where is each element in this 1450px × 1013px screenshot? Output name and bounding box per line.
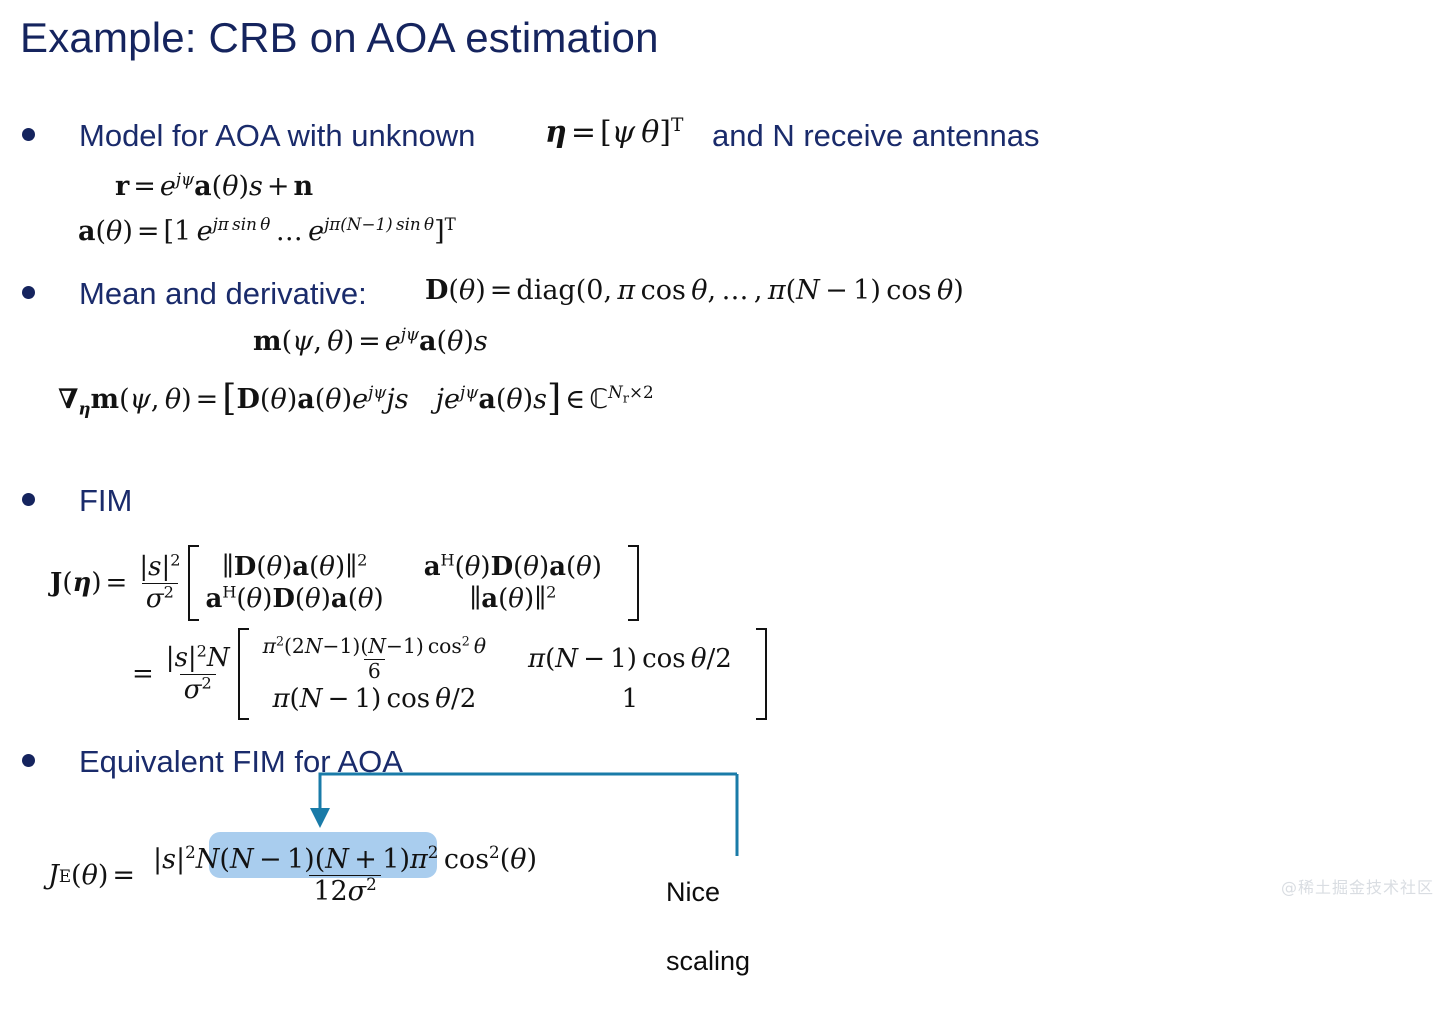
matrix-cell-12: π(N − 1) cos θ/2 xyxy=(528,646,732,672)
nice-scaling-connector-arrow xyxy=(0,760,780,880)
bullet-label-fim: FIM xyxy=(79,483,132,519)
bullet-item-mean-derivative: Mean and derivative: xyxy=(22,276,367,312)
connector-elbow-path xyxy=(320,774,737,810)
bullet-marker-icon xyxy=(22,286,35,299)
matrix-cell-21: π(N − 1) cos θ/2 xyxy=(272,686,476,712)
matrix-bracket-left xyxy=(188,545,199,621)
matrix-cell-22: 1 xyxy=(622,686,639,712)
equation-derivative-diag-matrix: D(θ)=diag(0, π cos θ, … , π(N − 1) cos θ… xyxy=(425,277,964,304)
bullet-label-model-suffix: and N receive antennas xyxy=(712,118,1039,154)
fim-evaluated-matrix: π2(2N−1)(N−1) cos2 θ 6 π(N − 1) cos θ/2 … xyxy=(255,636,732,713)
fim-prefactor-fraction: |s|2 σ2 xyxy=(135,553,184,612)
equation-fim-definition: J(η)= |s|2 σ2 ∥D(θ)a(θ)∥2 aH(θ)D(θ)a(θ) … xyxy=(50,545,639,621)
matrix-bracket-right xyxy=(756,628,767,720)
matrix-bracket-right xyxy=(628,545,639,621)
matrix-cell-22: ∥a(θ)∥2 xyxy=(469,586,556,612)
equation-steering-vector: a(θ)=[1 ejπ sin θ … ejπ(N−1) sin θ]T xyxy=(78,218,456,245)
bullet-label-model: Model for AOA with unknown xyxy=(79,118,475,154)
matrix-cell-21: aH(θ)D(θ)a(θ) xyxy=(205,586,383,612)
page-title: Example: CRB on AOA estimation xyxy=(20,14,659,62)
matrix-cell-11: ∥D(θ)a(θ)∥2 xyxy=(222,554,368,580)
watermark-text: @稀土掘金技术社区 xyxy=(1281,874,1434,898)
fim-evaluated-prefactor-fraction: |s|2N σ2 xyxy=(162,644,234,703)
equation-mean-vector: m(ψ, θ)=ejψa(θ)s xyxy=(253,328,488,355)
equation-eta-definition: η=[ψ θ]T xyxy=(545,118,683,148)
matrix-bracket-left xyxy=(238,628,249,720)
matrix-cell-11: π2(2N−1)(N−1) cos2 θ 6 xyxy=(255,636,494,683)
bullet-marker-icon xyxy=(22,128,35,141)
arrowhead-icon xyxy=(310,808,330,828)
matrix-cell-12: aH(θ)D(θ)a(θ) xyxy=(424,554,602,580)
equation-mean-gradient: ∇ηm(ψ, θ)=[D(θ)a(θ)ejψjs jejψa(θ)s]∈ℂNr×… xyxy=(58,378,654,414)
bullet-item-model: Model for AOA with unknown xyxy=(22,118,475,154)
equation-received-signal: r=ejψa(θ)s+n xyxy=(115,173,313,200)
bullet-item-fim: FIM xyxy=(22,483,132,519)
equation-fim-evaluated: = |s|2N σ2 π2(2N−1)(N−1) cos2 θ 6 π(N − … xyxy=(128,628,767,720)
bullet-marker-icon xyxy=(22,493,35,506)
fim-matrix: ∥D(θ)a(θ)∥2 aH(θ)D(θ)a(θ) aH(θ)D(θ)a(θ) … xyxy=(205,554,601,612)
caption-line-2: scaling xyxy=(666,944,750,979)
bullet-label-mean-derivative: Mean and derivative: xyxy=(79,276,367,312)
